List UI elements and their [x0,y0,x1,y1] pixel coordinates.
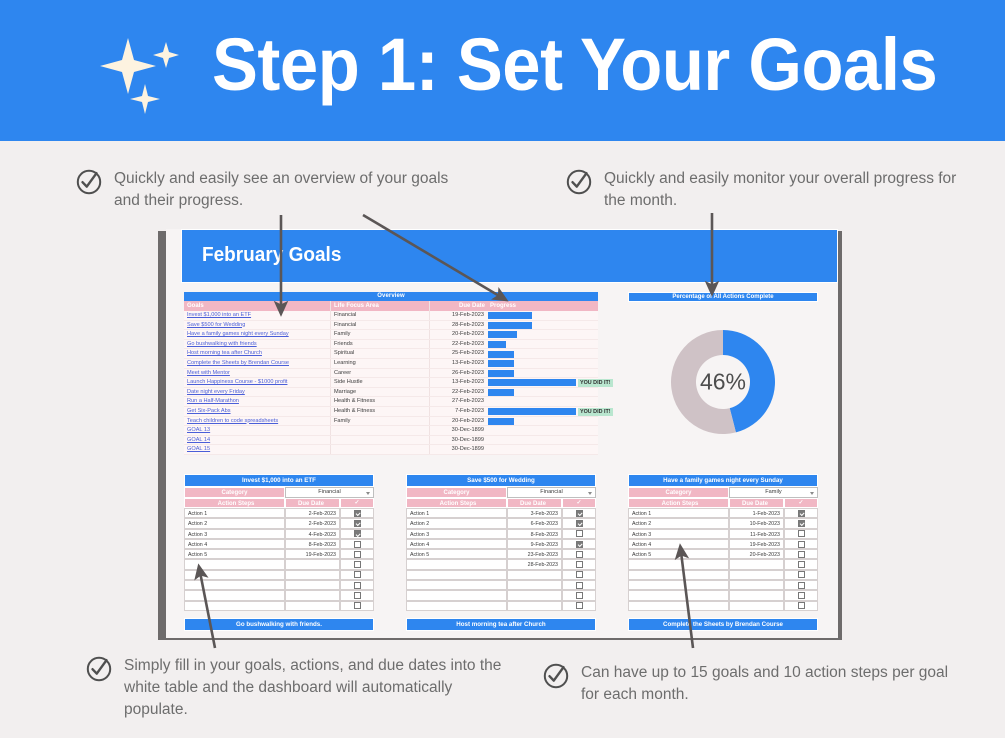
overview-cell-area [330,426,429,435]
overview-cell-area: Side Hustle [330,378,429,387]
action-checkbox-cell[interactable] [784,601,818,611]
action-header-row: Action StepsDue Date✓ [628,498,818,508]
action-duedate-cell[interactable]: 28-Feb-2023 [507,559,562,569]
overview-cell-progress [487,417,598,426]
overview-row: Host morning tea after ChurchSpiritual25… [184,349,598,359]
overview-cell-goal[interactable]: Run a Half-Marathon [184,397,330,406]
progress-bar [488,379,576,386]
action-duedate-cell[interactable] [729,590,784,600]
action-row [406,601,596,611]
checkbox[interactable] [354,520,361,527]
overview-cell-progress [487,369,598,378]
category-row: CategoryFinancial [184,487,374,498]
overview-cell-duedate: 13-Feb-2023 [429,378,487,387]
checkbox[interactable] [798,582,805,589]
checkbox[interactable] [798,530,805,537]
checkbox[interactable] [354,551,361,558]
progress-bar [488,389,514,396]
goal-link[interactable]: Have a family games night every Sunday [187,330,289,340]
overview-cell-progress [487,388,598,397]
progress-bar [488,322,532,329]
check-circle-icon [76,169,102,195]
goal-link[interactable]: Date night every Friday [187,388,245,398]
overview-cell-area: Health & Fitness [330,397,429,406]
progress-bar [488,370,514,377]
checkbox[interactable] [576,551,583,558]
action-row [406,590,596,600]
overview-row: GOAL 1330-Dec-1899 [184,426,598,436]
goal-link[interactable]: Teach children to code spreadsheets [187,417,278,427]
overview-cell-goal[interactable]: Have a family games night every Sunday [184,330,330,339]
overview-cell-goal[interactable]: Go bushwalking with friends [184,340,330,349]
goal-link[interactable]: Complete the Sheets by Brendan Course [187,359,289,369]
action-table-title: Save $500 for Wedding [406,474,596,487]
donut-title: Percentage of All Actions Complete [628,292,818,302]
action-duedate-cell[interactable]: 23-Feb-2023 [507,549,562,559]
action-row: 28-Feb-2023 [406,559,596,569]
checkbox[interactable] [576,520,583,527]
overview-cell-area: Marriage [330,388,429,397]
category-row: CategoryFamily [628,487,818,498]
overview-cell-area: Financial [330,321,429,330]
checkbox[interactable] [798,592,805,599]
action-duedate-cell[interactable]: 20-Feb-2023 [729,549,784,559]
goal-link[interactable]: Host morning tea after Church [187,349,262,359]
action-step-cell[interactable]: Action 2 [406,518,507,528]
action-duedate-cell[interactable]: 19-Feb-2023 [285,549,340,559]
page-root: Step 1: Set Your Goals Quickly and easil… [0,0,1005,738]
action-checkbox-cell[interactable] [562,549,596,559]
action-checkbox-cell[interactable] [784,570,818,580]
action-table: Invest $1,000 into an ETFCategoryFinanci… [184,474,374,611]
action-step-cell[interactable] [628,570,729,580]
overview-cell-goal[interactable]: Complete the Sheets by Brendan Course [184,359,330,368]
donut-chart: 46% [663,322,783,442]
action-row [628,590,818,600]
action-checkbox-cell[interactable] [784,508,818,518]
overview-cell-progress [487,349,598,358]
overview-cell-goal[interactable]: Launch Happiness Course - $1000 profit [184,378,330,387]
action-checkbox-cell[interactable] [784,590,818,600]
overview-header-row: Goals Life Focus Area Due Date Progress [184,301,598,311]
action-row: Action 22-Feb-2023 [184,518,374,528]
callout-text: Can have up to 15 goals and 10 action st… [581,662,963,706]
overview-cell-goal[interactable]: Host morning tea after Church [184,349,330,358]
overview-cell-area: Family [330,417,429,426]
checkbox[interactable] [354,582,361,589]
action-row [628,601,818,611]
overview-cell-area [330,445,429,454]
action-checkbox-cell[interactable] [340,549,374,559]
overview-row: Run a Half-MarathonHealth & Fitness27-Fe… [184,397,598,407]
overview-cell-duedate: 13-Feb-2023 [429,359,487,368]
action-duedate-cell[interactable] [285,580,340,590]
category-dropdown[interactable]: Financial [507,487,596,498]
action-duedate-cell[interactable] [507,590,562,600]
action-checkbox-cell[interactable] [562,518,596,528]
checkbox[interactable] [354,510,361,517]
category-dropdown[interactable]: Family [729,487,818,498]
overview-cell-goal[interactable]: GOAL 15 [184,445,330,454]
action-duedate-cell[interactable] [285,590,340,600]
action-step-cell[interactable]: Action 4 [406,539,507,549]
action-row [628,559,818,569]
action-column-header: ✓ [562,498,596,508]
callout-text: Simply fill in your goals, actions, and … [124,655,506,721]
action-duedate-cell[interactable]: 2-Feb-2023 [285,518,340,528]
action-row: Action 12-Feb-2023 [184,508,374,518]
action-duedate-cell[interactable] [285,601,340,611]
action-table-partial: Complete the Sheets by Brendan Course [628,618,818,631]
action-step-cell[interactable] [184,559,285,569]
action-checkbox-cell[interactable] [784,529,818,539]
action-checkbox-cell[interactable] [340,601,374,611]
overview-cell-duedate: 26-Feb-2023 [429,369,487,378]
action-checkbox-cell[interactable] [784,539,818,549]
category-dropdown[interactable]: Financial [285,487,374,498]
donut-center-label: 46% [700,369,746,396]
action-step-cell[interactable]: Action 1 [184,508,285,518]
column-header-goals: Goals [184,301,330,311]
action-step-cell[interactable]: Action 5 [628,549,729,559]
checkbox[interactable] [354,602,361,609]
chevron-down-icon[interactable] [366,492,370,495]
goal-link[interactable]: Run a Half-Marathon [187,397,239,407]
overview-cell-progress [487,436,598,445]
checkbox[interactable] [798,561,805,568]
action-step-cell[interactable]: Action 5 [184,549,285,559]
action-checkbox-cell[interactable] [562,508,596,518]
overview-row: GOAL 1530-Dec-1899 [184,445,598,455]
action-step-cell[interactable] [628,559,729,569]
overview-row: Have a family games night every SundayFa… [184,330,598,340]
overview-cell-duedate: 20-Feb-2023 [429,417,487,426]
action-duedate-cell[interactable]: 4-Feb-2023 [285,529,340,539]
overview-cell-duedate: 22-Feb-2023 [429,388,487,397]
checkbox[interactable] [576,530,583,537]
overview-cell-duedate: 30-Dec-1899 [429,436,487,445]
overview-cell-goal[interactable]: GOAL 13 [184,426,330,435]
action-step-cell[interactable]: Action 3 [628,529,729,539]
goal-link[interactable]: Invest $1,000 into an ETF [187,311,251,321]
overview-cell-progress [487,397,598,406]
action-step-cell[interactable]: Action 5 [406,549,507,559]
action-step-cell[interactable]: Action 3 [406,529,507,539]
overview-table: Overview Goals Life Focus Area Due Date … [184,292,598,455]
overview-cell-goal[interactable]: GOAL 14 [184,436,330,445]
action-step-cell[interactable] [406,601,507,611]
action-duedate-cell[interactable]: 8-Feb-2023 [285,539,340,549]
action-table: Save $500 for WeddingCategoryFinancialAc… [406,474,596,611]
action-row [406,570,596,580]
page-banner: Step 1: Set Your Goals [0,0,1005,141]
overview-cell-area: Family [330,330,429,339]
action-column-header: ✓ [784,498,818,508]
action-duedate-cell[interactable]: 1-Feb-2023 [729,508,784,518]
action-row: Action 419-Feb-2023 [628,539,818,549]
action-checkbox-cell[interactable] [784,580,818,590]
goal-link[interactable]: Launch Happiness Course - $1000 profit [187,378,287,388]
overview-body: Invest $1,000 into an ETFFinancial19-Feb… [184,311,598,455]
action-checkbox-cell[interactable] [340,570,374,580]
action-step-cell[interactable] [628,601,729,611]
goal-link[interactable]: GOAL 15 [187,445,210,455]
action-step-cell[interactable] [406,590,507,600]
action-column-header: Action Steps [184,498,285,508]
column-header-duedate: Due Date [429,301,487,311]
progress-bar [488,341,506,348]
overview-cell-duedate: 20-Feb-2023 [429,330,487,339]
checkbox[interactable] [354,561,361,568]
action-step-cell[interactable]: Action 4 [184,539,285,549]
goal-link[interactable]: Save $500 for Wedding [187,321,245,331]
action-table: Have a family games night every SundayCa… [628,474,818,611]
overview-cell-duedate: 19-Feb-2023 [429,311,487,320]
action-step-cell[interactable] [406,559,507,569]
action-duedate-cell[interactable] [729,580,784,590]
page-title: Step 1: Set Your Goals [212,22,937,107]
action-step-cell[interactable] [184,601,285,611]
action-row: Action 11-Feb-2023 [628,508,818,518]
overview-row: GOAL 1430-Dec-1899 [184,436,598,446]
overview-row: Invest $1,000 into an ETFFinancial19-Feb… [184,311,598,321]
action-row [184,590,374,600]
check-circle-icon [566,169,592,195]
checkbox[interactable] [576,541,583,548]
action-row [184,559,374,569]
action-step-cell[interactable] [406,570,507,580]
action-step-cell[interactable]: Action 4 [628,539,729,549]
action-duedate-cell[interactable]: 19-Feb-2023 [729,539,784,549]
check-circle-icon [543,663,569,689]
action-duedate-cell[interactable]: 3-Feb-2023 [507,508,562,518]
action-row [184,580,374,590]
action-checkbox-cell[interactable] [562,590,596,600]
action-checkbox-cell[interactable] [562,539,596,549]
done-badge: YOU DID IT! [578,408,613,417]
action-column-header: Due Date [507,498,562,508]
action-checkbox-cell[interactable] [340,518,374,528]
overview-row: Get Six-Pack AbsHealth & Fitness7-Feb-20… [184,407,598,417]
action-row [628,570,818,580]
action-duedate-cell[interactable] [729,559,784,569]
checkbox[interactable] [576,510,583,517]
checkbox[interactable] [576,592,583,599]
action-header-row: Action StepsDue Date✓ [184,498,374,508]
action-table-title: Complete the Sheets by Brendan Course [628,618,818,631]
action-table-title: Have a family games night every Sunday [628,474,818,487]
goal-link[interactable]: Get Six-Pack Abs [187,407,231,417]
action-duedate-cell[interactable]: 11-Feb-2023 [729,529,784,539]
goal-link[interactable]: GOAL 14 [187,436,210,446]
action-row: Action 34-Feb-2023 [184,529,374,539]
action-row: Action 519-Feb-2023 [184,549,374,559]
action-duedate-cell[interactable] [285,570,340,580]
action-checkbox-cell[interactable] [340,529,374,539]
progress-bar [488,418,514,425]
overview-cell-goal[interactable]: Meet with Mentor [184,369,330,378]
action-duedate-cell[interactable]: 10-Feb-2023 [729,518,784,528]
action-duedate-cell[interactable] [729,570,784,580]
overview-row: Save $500 for WeddingFinancial28-Feb-202… [184,321,598,331]
action-row: Action 49-Feb-2023 [406,539,596,549]
overview-row: Teach children to code spreadsheetsFamil… [184,417,598,427]
action-step-cell[interactable]: Action 2 [628,518,729,528]
overview-cell-area: Spiritual [330,349,429,358]
action-row: Action 26-Feb-2023 [406,518,596,528]
action-row: Action 38-Feb-2023 [406,529,596,539]
action-checkbox-cell[interactable] [340,539,374,549]
action-step-cell[interactable]: Action 2 [184,518,285,528]
overview-cell-progress [487,426,598,435]
action-row [184,601,374,611]
overview-cell-progress [487,311,598,320]
overview-cell-progress [487,330,598,339]
action-column-header: Action Steps [628,498,729,508]
spreadsheet-panel: February Goals Overview Goals Life Focus… [166,229,838,638]
checkbox[interactable] [576,582,583,589]
spreadsheet-header: February Goals [181,229,838,283]
action-step-cell[interactable] [628,580,729,590]
action-row [628,580,818,590]
action-checkbox-cell[interactable] [340,590,374,600]
overview-cell-duedate: 30-Dec-1899 [429,445,487,454]
action-step-cell[interactable] [184,570,285,580]
action-duedate-cell[interactable] [507,601,562,611]
action-table-title: Go bushwalking with friends. [184,618,374,631]
checkbox[interactable] [354,592,361,599]
check-circle-icon [86,656,112,682]
checkbox[interactable] [354,530,361,537]
overview-cell-duedate: 7-Feb-2023 [429,407,487,416]
action-row [184,570,374,580]
action-duedate-cell[interactable] [507,570,562,580]
action-step-cell[interactable]: Action 3 [184,529,285,539]
overview-cell-progress: YOU DID IT! [487,378,598,387]
action-column-header: Due Date [729,498,784,508]
category-label: Category [628,487,729,498]
goal-link[interactable]: Meet with Mentor [187,369,230,379]
action-checkbox-cell[interactable] [562,529,596,539]
overview-cell-progress [487,321,598,330]
checkbox[interactable] [354,571,361,578]
action-checkbox-cell[interactable] [562,570,596,580]
overview-cell-duedate: 22-Feb-2023 [429,340,487,349]
callout-bottom-right: Can have up to 15 goals and 10 action st… [543,662,963,706]
checkbox[interactable] [576,571,583,578]
action-step-cell[interactable] [184,580,285,590]
overview-cell-progress [487,445,598,454]
action-row [406,580,596,590]
callout-text: Quickly and easily see an overview of yo… [114,168,476,212]
overview-cell-goal[interactable]: Invest $1,000 into an ETF [184,311,330,320]
callout-bottom-left: Simply fill in your goals, actions, and … [86,655,506,721]
checkbox[interactable] [798,602,805,609]
overview-cell-duedate: 28-Feb-2023 [429,321,487,330]
progress-bar [488,331,517,338]
goal-link[interactable]: Go bushwalking with friends [187,340,257,350]
action-checkbox-cell[interactable] [562,580,596,590]
overview-cell-area: Health & Fitness [330,407,429,416]
action-checkbox-cell[interactable] [340,559,374,569]
action-step-cell[interactable]: Action 1 [628,508,729,518]
checkbox[interactable] [798,541,805,548]
callout-top-right: Quickly and easily monitor your overall … [566,168,966,212]
category-label: Category [184,487,285,498]
action-row: Action 311-Feb-2023 [628,529,818,539]
action-checkbox-cell[interactable] [784,559,818,569]
action-duedate-cell[interactable]: 9-Feb-2023 [507,539,562,549]
action-checkbox-cell[interactable] [784,518,818,528]
overview-cell-duedate: 25-Feb-2023 [429,349,487,358]
donut-panel: Percentage of All Actions Complete 46% [628,292,818,442]
action-column-header: Due Date [285,498,340,508]
action-table-partial: Go bushwalking with friends. [184,618,374,631]
action-checkbox-cell[interactable] [340,580,374,590]
category-label: Category [406,487,507,498]
goal-link[interactable]: GOAL 13 [187,426,210,436]
overview-cell-area: Career [330,369,429,378]
action-checkbox-cell[interactable] [562,559,596,569]
chevron-down-icon[interactable] [588,492,592,495]
action-row: Action 48-Feb-2023 [184,539,374,549]
overview-cell-goal[interactable]: Teach children to code spreadsheets [184,417,330,426]
action-duedate-cell[interactable] [507,580,562,590]
checkbox[interactable] [576,602,583,609]
action-step-cell[interactable]: Action 1 [406,508,507,518]
column-header-progress: Progress [487,301,598,311]
progress-bar [488,351,514,358]
progress-bar [488,408,576,415]
action-duedate-cell[interactable]: 8-Feb-2023 [507,529,562,539]
action-duedate-cell[interactable] [729,601,784,611]
checkbox[interactable] [798,520,805,527]
category-row: CategoryFinancial [406,487,596,498]
action-duedate-cell[interactable]: 2-Feb-2023 [285,508,340,518]
action-checkbox-cell[interactable] [784,549,818,559]
action-step-cell[interactable] [406,580,507,590]
column-header-area: Life Focus Area [330,301,429,311]
overview-cell-goal[interactable]: Get Six-Pack Abs [184,407,330,416]
action-row: Action 520-Feb-2023 [628,549,818,559]
action-step-cell[interactable] [184,590,285,600]
progress-bar [488,360,514,367]
overview-row: Meet with MentorCareer26-Feb-2023 [184,369,598,379]
action-header-row: Action StepsDue Date✓ [406,498,596,508]
overview-row: Complete the Sheets by Brendan CourseLea… [184,359,598,369]
action-duedate-cell[interactable] [285,559,340,569]
action-table-partial: Host morning tea after Church [406,618,596,631]
action-checkbox-cell[interactable] [340,508,374,518]
checkbox[interactable] [798,551,805,558]
callout-text: Quickly and easily monitor your overall … [604,168,966,212]
callout-top-left: Quickly and easily see an overview of yo… [76,168,476,212]
action-checkbox-cell[interactable] [562,601,596,611]
sparkles-icon [98,36,190,114]
overview-cell-goal[interactable]: Save $500 for Wedding [184,321,330,330]
action-step-cell[interactable] [628,590,729,600]
checkbox[interactable] [576,561,583,568]
checkbox[interactable] [798,571,805,578]
chevron-down-icon[interactable] [810,492,814,495]
overview-row: Date night every FridayMarriage22-Feb-20… [184,388,598,398]
checkbox[interactable] [354,541,361,548]
overview-cell-goal[interactable]: Date night every Friday [184,388,330,397]
action-column-header: Action Steps [406,498,507,508]
checkbox[interactable] [798,510,805,517]
action-duedate-cell[interactable]: 6-Feb-2023 [507,518,562,528]
done-badge: YOU DID IT! [578,379,613,388]
